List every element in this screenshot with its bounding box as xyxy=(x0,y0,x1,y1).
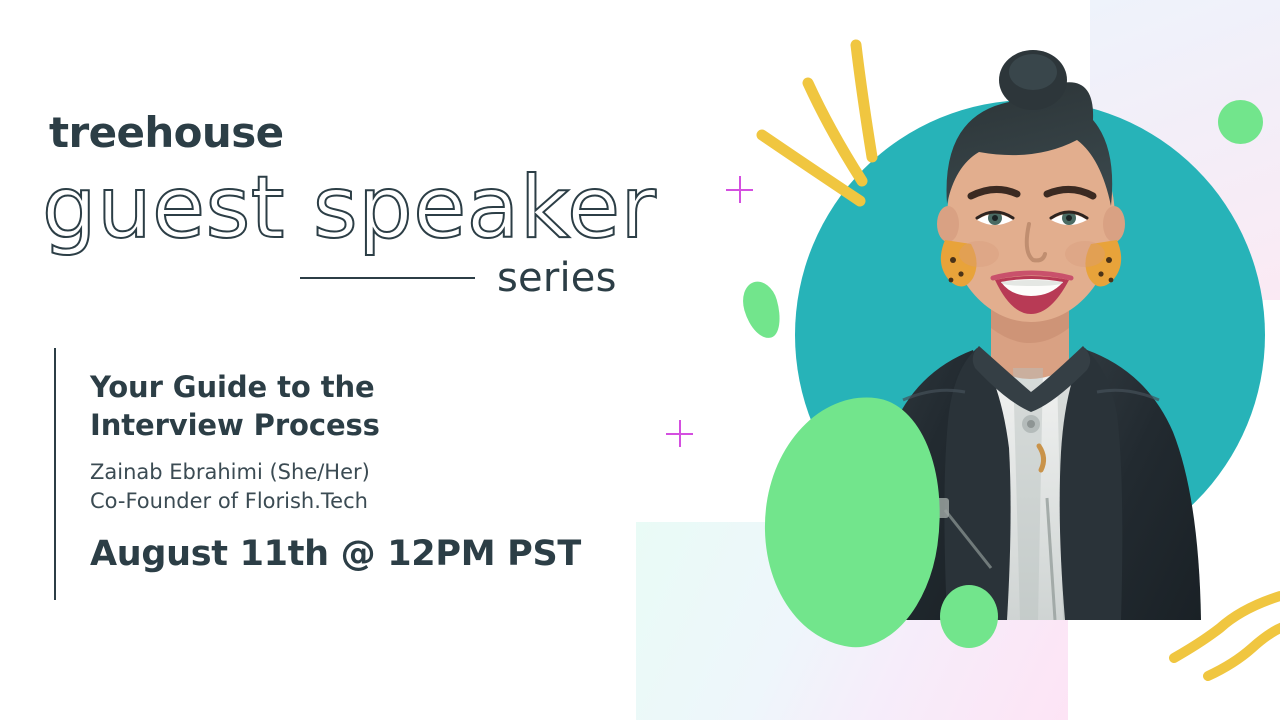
green-dot-top-right xyxy=(1218,100,1263,144)
plus-mark-icon-upper xyxy=(726,176,753,203)
series-row: series xyxy=(300,255,630,301)
speaker-role: Co-Founder of Florish.Tech xyxy=(90,487,620,517)
green-blob-small xyxy=(738,277,787,342)
talk-title: Your Guide to the Interview Process xyxy=(90,368,620,445)
talk-info-block: Your Guide to the Interview Process Zain… xyxy=(90,368,620,574)
sparkle-lines-icon xyxy=(750,35,910,220)
promo-graphic-canvas: treehouse guest speaker series Your Guid… xyxy=(0,0,1280,720)
green-dot-bottom xyxy=(940,585,998,648)
brand-wordmark: treehouse xyxy=(49,108,284,157)
info-accent-rule xyxy=(54,348,56,600)
headline-outline-text: guest speaker xyxy=(42,158,656,258)
series-divider-rule xyxy=(300,277,475,279)
talk-title-line-1: Your Guide to the xyxy=(90,368,620,406)
wave-lines-icon xyxy=(1168,586,1280,682)
talk-title-line-2: Interview Process xyxy=(90,406,620,444)
series-label: series xyxy=(497,255,617,301)
speaker-name: Zainab Ebrahimi (She/Her) xyxy=(90,458,620,488)
plus-mark-icon-lower xyxy=(666,420,693,447)
event-date-time: August 11th @ 12PM PST xyxy=(90,534,620,574)
